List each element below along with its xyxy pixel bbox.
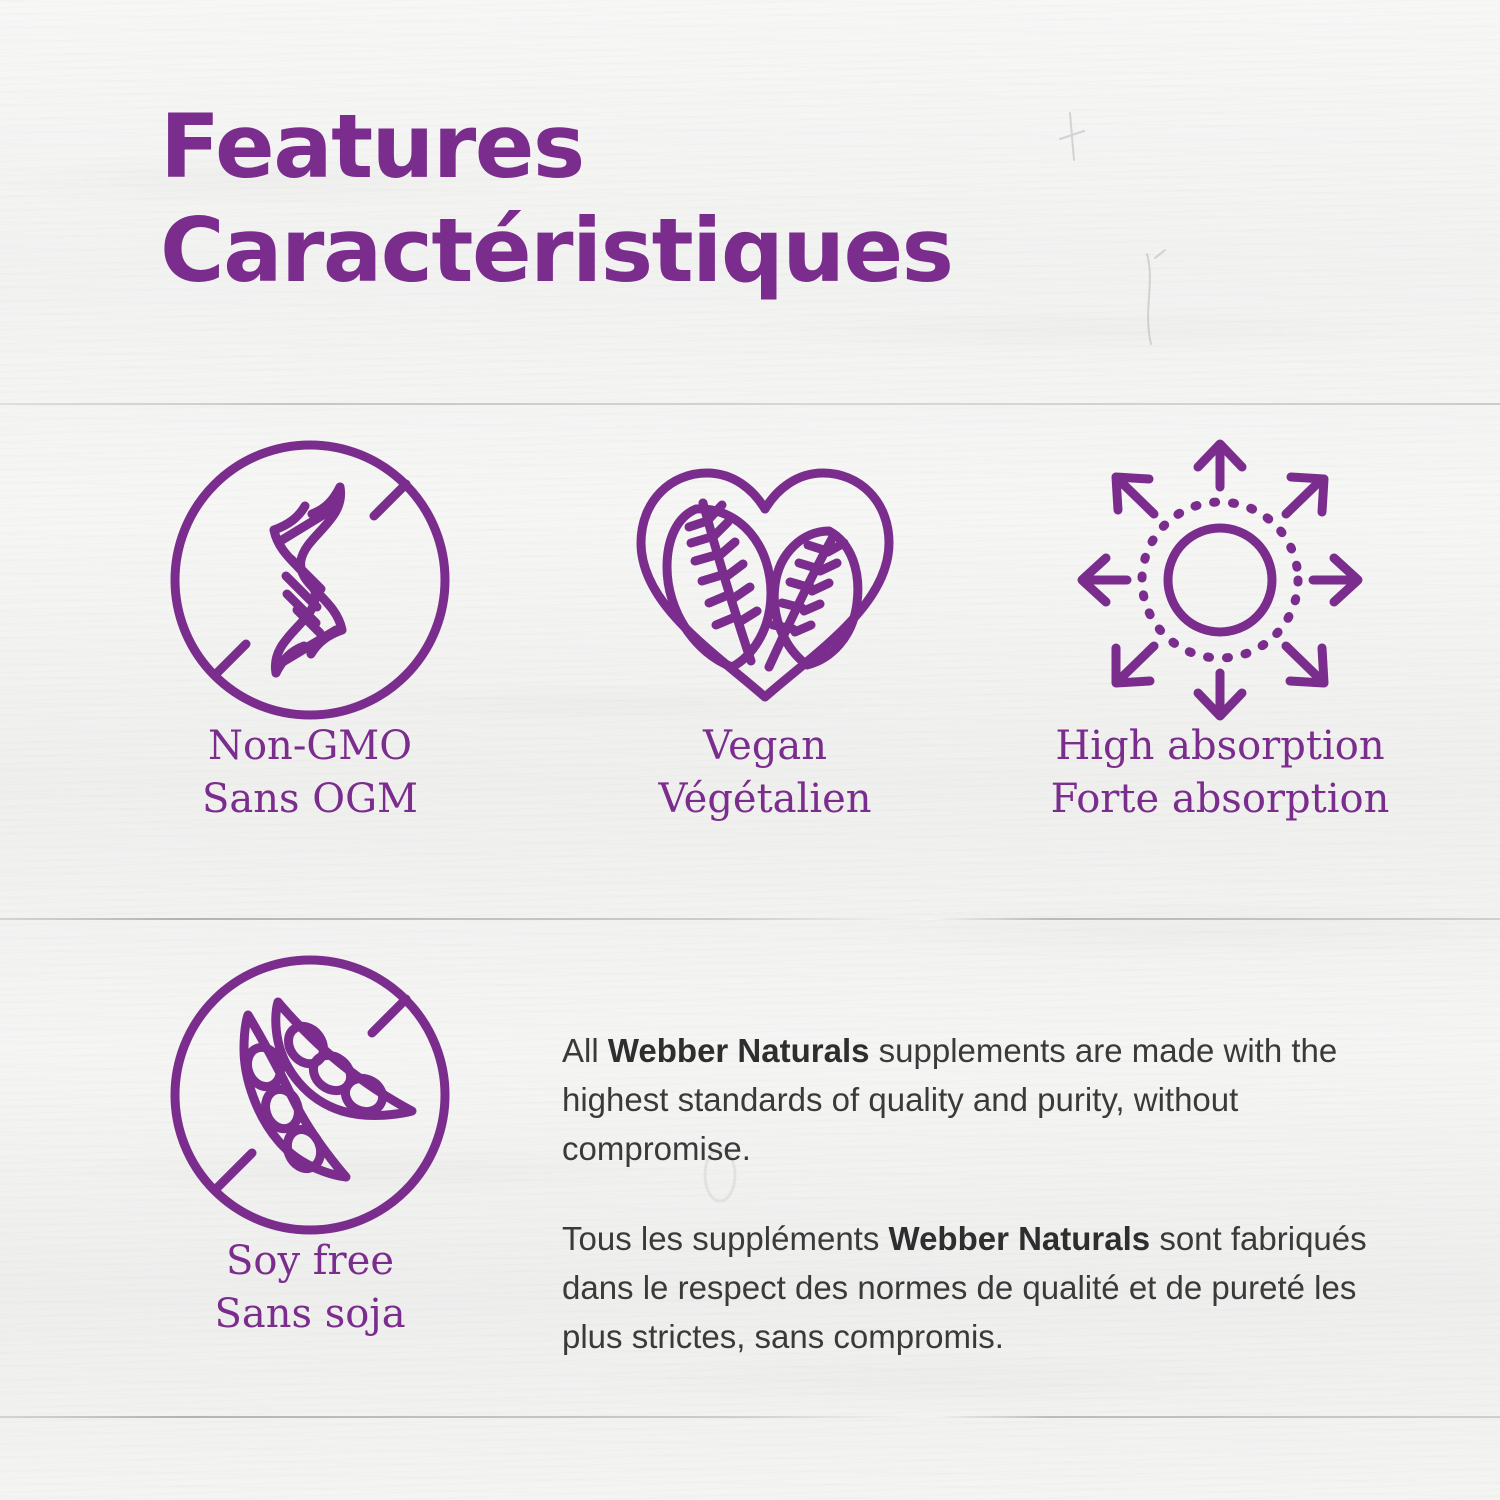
feature-label-fr: Forte absorption [1000,773,1440,826]
soy-free-pods-icon [100,955,520,1235]
no-gmo-dna-icon [100,440,520,720]
feature-label-fr: Végétalien [575,773,955,826]
feature-non-gmo: Non-GMO Sans OGM [100,440,520,826]
feature-label-fr: Sans OGM [100,773,520,826]
brand-name-fr: Webber Naturals [889,1220,1151,1257]
feature-soy-free: Soy free Sans soja [100,955,520,1341]
title-line-french: Caractéristiques [160,199,953,303]
plank-divider-2 [0,918,1500,920]
plank-divider-3 [0,1416,1500,1418]
title-line-english: Features [160,95,953,199]
copy-fr-before-brand: Tous les suppléments [562,1220,889,1257]
infographic-canvas: Features Caractéristiques [0,0,1500,1500]
page-title: Features Caractéristiques [160,95,953,303]
body-copy: All Webber Naturals supplements are made… [562,1027,1392,1362]
feature-high-absorption: High absorption Forte absorption [1000,440,1440,826]
copy-en-before-brand: All [562,1032,608,1069]
feature-label-fr: Sans soja [100,1288,520,1341]
brand-name-en: Webber Naturals [608,1032,870,1069]
feature-vegan: Vegan Végétalien [575,440,955,826]
feature-label-en: High absorption [1000,720,1440,773]
wood-scratch-icon [1040,105,1110,225]
paragraph-english: All Webber Naturals supplements are made… [562,1027,1392,1173]
feature-label-en: Vegan [575,720,955,773]
vegan-heart-leaves-icon [575,440,955,720]
paragraph-french: Tous les suppléments Webber Naturals son… [562,1215,1392,1361]
plank-divider-1 [0,403,1500,405]
wood-knot-icon [1125,248,1185,378]
high-absorption-arrows-icon [1000,440,1440,720]
